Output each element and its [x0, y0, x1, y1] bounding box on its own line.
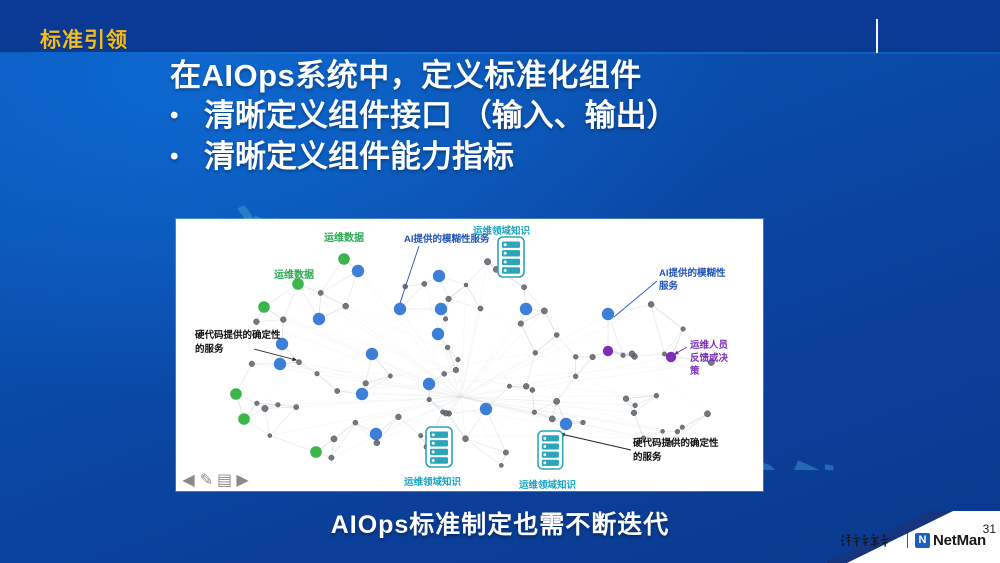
- netman-wordmark: NetMan: [933, 532, 986, 549]
- header-divider: [0, 52, 1000, 54]
- slide-root: 标准引领 在AIOps系统中，定义标准化组件 • 清晰定义组件接口 （输入、输出…: [0, 0, 1000, 563]
- footer-logo-group: N NetMan: [840, 532, 986, 549]
- header-tick-mark: [876, 19, 878, 53]
- bullet-text-2: 清晰定义组件能力指标: [204, 136, 514, 177]
- server-rack-icon: [426, 427, 452, 467]
- pencil-edit-icon[interactable]: ✎: [199, 472, 214, 487]
- logo-divider: [907, 533, 908, 548]
- server-rack-icon: [538, 431, 563, 469]
- netman-mark-icon: N: [915, 533, 930, 548]
- headline-bullet-2: • 清晰定义组件能力指标: [170, 136, 870, 177]
- network-graph: [176, 219, 763, 491]
- figure-toolbar[interactable]: ◀ ✎ ▤ ▶: [181, 472, 250, 487]
- tsinghua-university-logo: [840, 532, 900, 549]
- bullet-marker-2: •: [170, 136, 204, 177]
- network-diagram-figure: 运维数据 运维数据 AI提供的模糊性服务 AI提供的模糊性 服务 硬代码提供的确…: [176, 219, 763, 491]
- netman-logo: N NetMan: [915, 532, 986, 549]
- headline-block: 在AIOps系统中，定义标准化组件 • 清晰定义组件接口 （输入、输出） • 清…: [170, 57, 870, 177]
- server-rack-icon: [498, 237, 524, 277]
- header-band: [0, 0, 1000, 52]
- next-arrow-icon[interactable]: ▶: [235, 472, 250, 487]
- prev-arrow-icon[interactable]: ◀: [181, 472, 196, 487]
- bullet-text-1: 清晰定义组件接口 （输入、输出）: [204, 95, 678, 136]
- note-icon[interactable]: ▤: [217, 472, 232, 487]
- section-title: 标准引领: [40, 24, 128, 54]
- page-number: 31: [983, 522, 996, 536]
- headline-line-1: 在AIOps系统中，定义标准化组件: [170, 57, 870, 95]
- bullet-marker-1: •: [170, 95, 204, 136]
- headline-bullet-1: • 清晰定义组件接口 （输入、输出）: [170, 95, 870, 136]
